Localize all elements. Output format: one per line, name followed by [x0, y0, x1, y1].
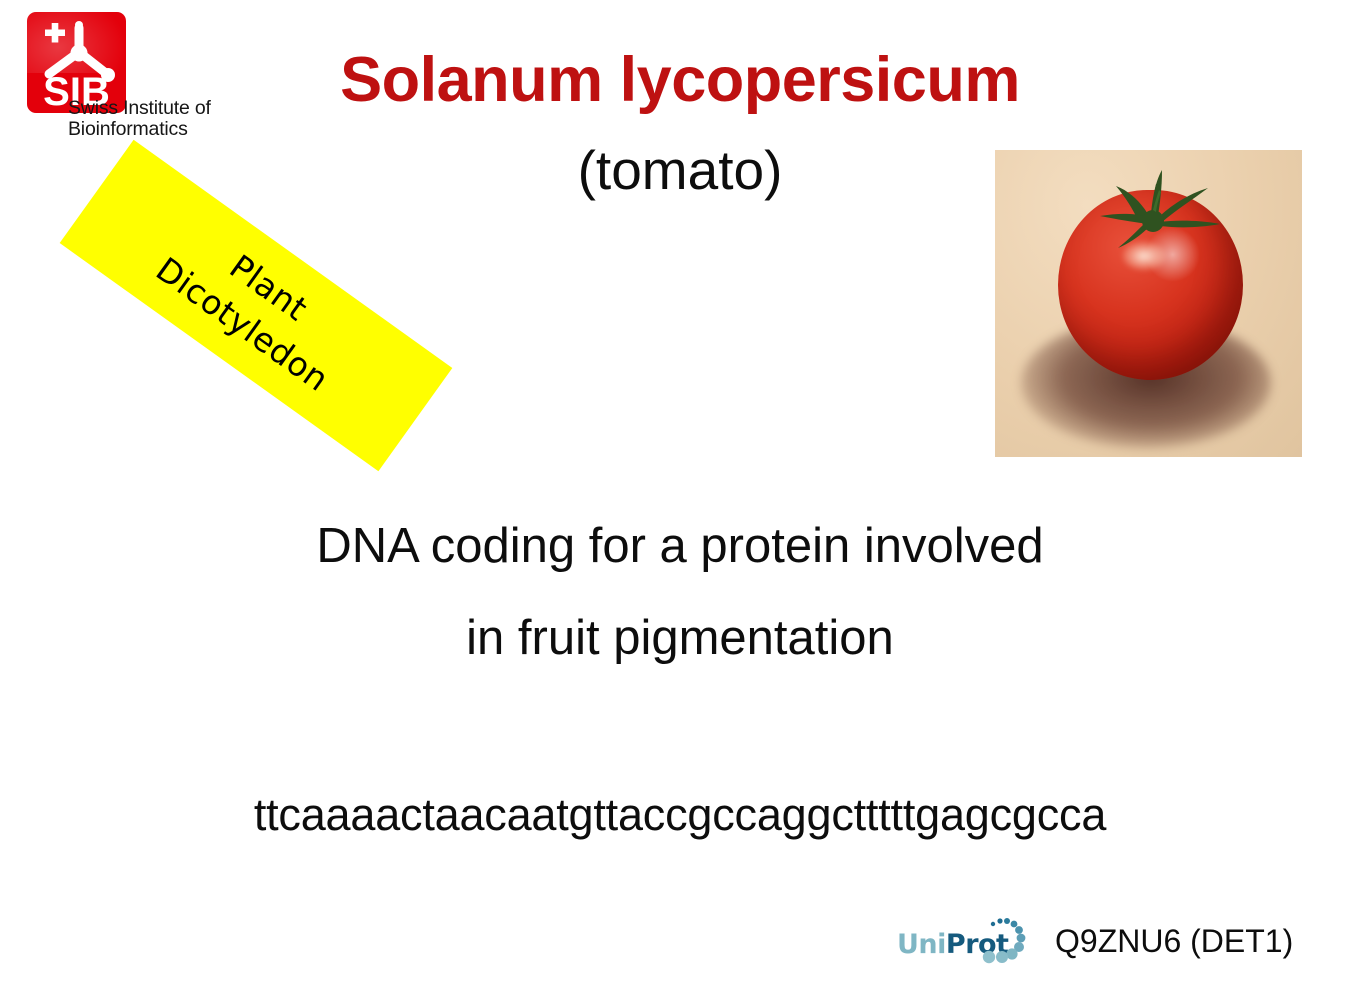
uniprot-accession-label: Q9ZNU6 (DET1)	[1055, 921, 1293, 961]
species-title: Solanum lycopersicum	[160, 44, 1200, 116]
uniprot-wordmark-uni: Uni	[897, 929, 946, 960]
dna-caption: DNA coding for a protein involved in fru…	[100, 500, 1260, 684]
dna-sequence-text: ttcaaaactaacaatgttaccgccaggctttttgagcgcc…	[60, 787, 1300, 843]
tomato-calyx-icon	[1058, 164, 1248, 274]
uniprot-logo: UniProt	[895, 916, 1030, 974]
dna-caption-line-2: in fruit pigmentation	[100, 592, 1260, 684]
tomato-photo	[995, 150, 1302, 457]
dna-caption-line-1: DNA coding for a protein involved	[100, 500, 1260, 592]
uniprot-dot-spiral-icon	[973, 916, 1031, 974]
uniprot-footer: UniProt Q9ZNU6 (DET1)	[895, 908, 1315, 978]
